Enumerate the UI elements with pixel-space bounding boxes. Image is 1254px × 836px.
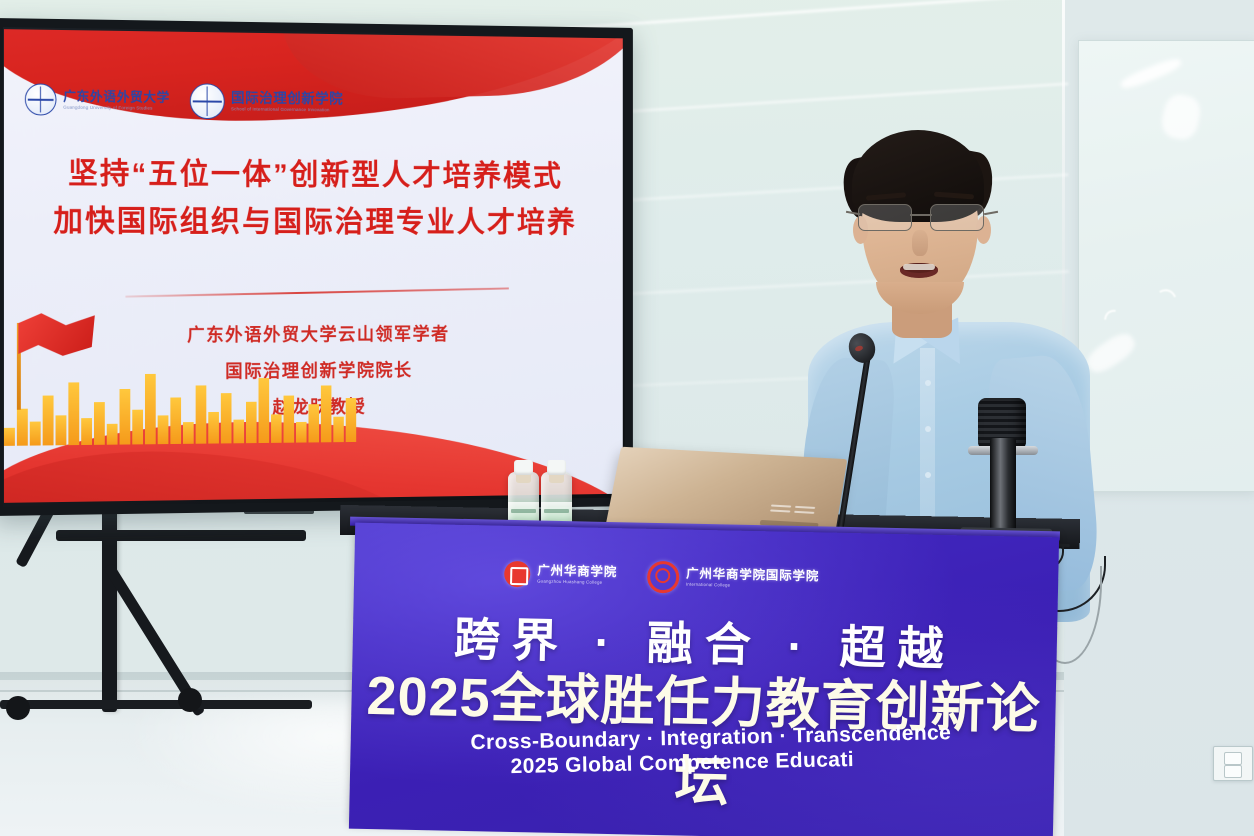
glasses-temple <box>984 211 998 215</box>
globe-icon <box>189 83 224 119</box>
glasses-lens <box>930 204 984 231</box>
laptop-logo-icon <box>769 505 815 519</box>
slide-title: 坚持“五位一体”创新型人才培养模式 加快国际组织与国际治理专业人才培养 <box>4 150 623 248</box>
podium-banner: 广州华商学院 Guangzhou Huashang College 广州华商学院… <box>349 523 1059 836</box>
globe-icon <box>25 83 57 115</box>
slide-logo-row: 广东外语外贸大学 Guangdong University of Foreign… <box>25 81 344 120</box>
tv-caster-wheel <box>6 696 30 720</box>
tv-stand-base-bar <box>0 700 312 709</box>
slide-flag-graphic <box>12 313 95 408</box>
bottle-cap <box>514 460 533 475</box>
seal-icon <box>504 561 531 588</box>
wall-display[interactable]: 广东外语外贸大学 Guangdong University of Foreign… <box>0 18 633 516</box>
wall-outlet[interactable] <box>1213 746 1253 781</box>
whiteboard-mark <box>1147 286 1182 324</box>
slide-logo-cn: 广东外语外贸大学 <box>63 89 170 104</box>
c-emblem-icon <box>647 561 680 594</box>
slide-logo-cn: 国际治理创新学院 <box>231 91 343 107</box>
shirt-button <box>925 472 931 478</box>
bottle-cap <box>547 460 566 475</box>
slide-subtitle-line-1: 广东外语外贸大学云山领军学者 <box>4 316 623 355</box>
shirt-button <box>925 426 931 432</box>
screenshot-root: 广东外语外贸大学 Guangdong University of Foreign… <box>0 0 1254 836</box>
slide-logo-en: School of International Governance Innov… <box>231 108 343 114</box>
condenser-microphone-body <box>990 438 1016 540</box>
whiteboard <box>1078 40 1254 492</box>
slide-title-line-2: 加快国际组织与国际治理专业人才培养 <box>4 198 623 247</box>
whiteboard-glare <box>1119 55 1183 91</box>
eyeglasses <box>852 204 992 230</box>
banner-logo-cn: 广州华商学院国际学院 <box>686 567 819 584</box>
tv-caster-wheel <box>178 688 202 712</box>
slide-logo-en: Guangdong University of Foreign Studies <box>63 105 170 111</box>
banner-logo-en: Guangzhou Huashang College <box>537 580 617 587</box>
outlet-socket <box>1224 752 1242 765</box>
banner-logo-cn: 广州华商学院 <box>537 564 617 579</box>
shirt-button <box>925 380 931 386</box>
banner-logo-en: International College <box>686 583 819 591</box>
slide-logo-sigi: 国际治理创新学院 School of International Governa… <box>189 83 343 120</box>
slide-divider <box>125 288 509 298</box>
flag-cloth <box>18 313 94 368</box>
presentation-slide: 广东外语外贸大学 Guangdong University of Foreign… <box>4 29 623 503</box>
banner-logo-international-college: 广州华商学院国际学院 International College <box>647 561 820 597</box>
tv-screen: 广东外语外贸大学 Guangdong University of Foreign… <box>4 29 623 503</box>
speaker-nose <box>912 230 928 256</box>
whiteboard-glare <box>1159 92 1203 143</box>
speaker-teeth <box>903 264 935 270</box>
banner-logo-row: 广州华商学院 Guangzhou Huashang College 广州华商学院… <box>504 558 819 597</box>
tv-stand-crossbar <box>56 530 306 541</box>
outlet-socket <box>1224 765 1242 778</box>
banner-logo-huashang: 广州华商学院 Guangzhou Huashang College <box>504 561 617 589</box>
glasses-lens <box>858 204 912 231</box>
slide-logo-gdufs: 广东外语外贸大学 Guangdong University of Foreign… <box>25 83 170 116</box>
glasses-bridge <box>910 214 932 216</box>
slide-title-line-1: 坚持“五位一体”创新型人才培养模式 <box>4 150 623 201</box>
